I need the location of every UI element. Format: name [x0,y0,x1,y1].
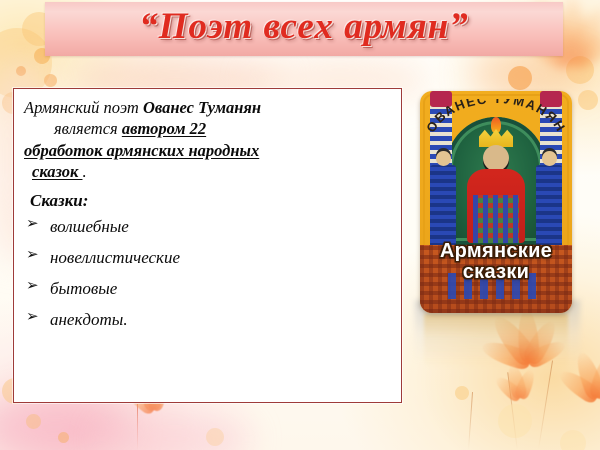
decor-bubble [44,74,57,87]
slide-canvas: “Поэт всех армян” Армянский поэт Ованес … [0,0,600,450]
paragraph-run-plain-1: Армянский поэт [24,98,143,117]
decor-bubble [206,428,224,446]
list-item-label: новеллистические [50,248,180,267]
paragraph-run-underline-3: сказок [32,162,82,181]
decor-bubble [498,404,532,438]
list-item-label: анекдоты. [50,310,128,329]
list-item: ➢ новеллистические [24,247,392,269]
arrow-bullet-icon: ➢ [26,215,39,235]
decor-bubble [58,432,69,443]
paragraph-period: . [82,162,86,181]
book-cover: ОВАНЕС ТУМАНЯН Армянские сказки [420,91,572,313]
decor-stem [468,392,473,450]
arrow-bullet-icon: ➢ [26,308,39,328]
decor-blob [100,414,250,450]
paragraph-run-plain-2: является [54,119,122,138]
decor-stem [507,372,517,450]
book-cover-image: ОВАНЕС ТУМАНЯН Армянские сказки [420,91,572,313]
list-item: ➢ анекдоты. [24,309,392,331]
decor-blob [0,396,130,450]
decor-stem [137,404,138,450]
decor-bubble [455,386,469,400]
cover-guard-left [430,165,456,251]
paragraph-run-underline-2: обработок армянских народных [24,141,259,160]
tale-types-list: ➢ волшебные ➢ новеллистические ➢ бытовые… [24,216,392,331]
cover-title-block: Армянские сказки [420,241,572,283]
decor-bubble [508,66,532,90]
book-cover-reflection [424,314,568,370]
paragraph-run-underline-1: автором 22 [122,119,206,138]
title-banner: “Поэт всех армян” [45,2,563,56]
page-title: “Поэт всех армян” [45,5,563,48]
list-item-label: волшебные [50,217,129,236]
cover-guard-right [536,165,562,251]
list-item-label: бытовые [50,279,117,298]
arrow-bullet-icon: ➢ [26,246,39,266]
decor-bubble [560,430,586,450]
cover-author-name: ОВАНЕС ТУМАНЯН [423,99,569,135]
decor-bubble [566,56,594,84]
decor-bubble [578,90,598,110]
cover-king-head [483,145,509,171]
decor-stem [538,360,553,449]
decor-bubble [16,66,26,76]
decor-bubble [26,414,41,429]
cover-robe-pattern [473,195,519,243]
list-item: ➢ волшебные [24,216,392,238]
content-textbox: Армянский поэт Ованес Туманян является а… [13,88,402,403]
arrow-bullet-icon: ➢ [26,277,39,297]
cover-guard-head [436,151,451,166]
cover-title-line2: сказки [420,262,572,283]
intro-paragraph: Армянский поэт Ованес Туманян является а… [24,97,392,183]
list-heading: Сказки: [30,190,392,212]
cover-author-arc: ОВАНЕС ТУМАНЯН [420,99,572,145]
cover-title-line1: Армянские [420,241,572,262]
list-item: ➢ бытовые [24,278,392,300]
author-name-bold: Ованес Туманян [143,98,261,117]
cover-guard-head [542,151,557,166]
